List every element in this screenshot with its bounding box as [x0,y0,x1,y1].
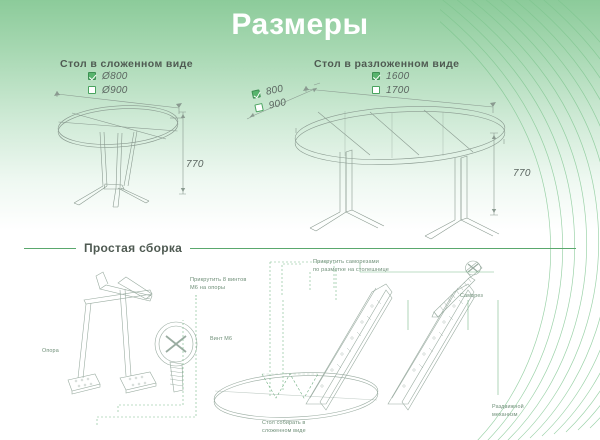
option-label: Ø900 [102,85,128,96]
poster-page: Размеры Стол в сложенном виде Стол в раз… [0,0,600,440]
page-title: Размеры [0,8,600,42]
option-label: 1700 [386,85,409,96]
folded-height-dimension: 770 [186,159,204,170]
folded-diameter-options: Ø800 Ø900 [88,70,128,98]
label-support: Опора [42,348,59,356]
option-row[interactable]: Ø800 [88,70,128,82]
option-row[interactable]: 1700 [372,84,409,96]
option-row[interactable]: 1600 [372,70,409,82]
label-step-attach-screws: Прикрутить 8 винтов М6 на опоры [190,276,247,292]
option-label: Ø800 [102,71,128,82]
checkbox-checked-icon[interactable] [251,89,260,98]
label-step-attach-selftapping: Прикрутить саморезами по разметке на сто… [313,258,389,274]
assembly-section-heading: Простая сборка [0,238,600,258]
label-slide-mechanism: Раздвижной механизм [492,404,524,420]
option-label: 800 [265,83,284,97]
label-assemble-folded: Стол собирать в сложенном виде [262,420,306,436]
checkbox-unchecked-icon[interactable] [254,103,263,112]
label-self-tapping-screw: Саморез [460,293,483,301]
heading-rule-right [190,248,576,249]
unfolded-length-options: 1600 1700 [372,70,409,98]
heading-rule-left [24,248,76,249]
option-label: 900 [268,97,287,111]
checkbox-checked-icon[interactable] [372,72,380,80]
assembly-heading-text: Простая сборка [84,241,182,255]
option-row[interactable]: Ø900 [88,84,128,96]
option-label: 1600 [386,71,409,82]
checkbox-checked-icon[interactable] [88,72,96,80]
checkbox-unchecked-icon[interactable] [88,86,96,94]
checkbox-unchecked-icon[interactable] [372,86,380,94]
unfolded-height-dimension: 770 [513,168,531,179]
section-heading-folded: Стол в сложенном виде [60,58,193,70]
label-screw-m6: Винт М6 [210,336,232,344]
section-heading-unfolded: Стол в разложенном виде [314,58,459,70]
